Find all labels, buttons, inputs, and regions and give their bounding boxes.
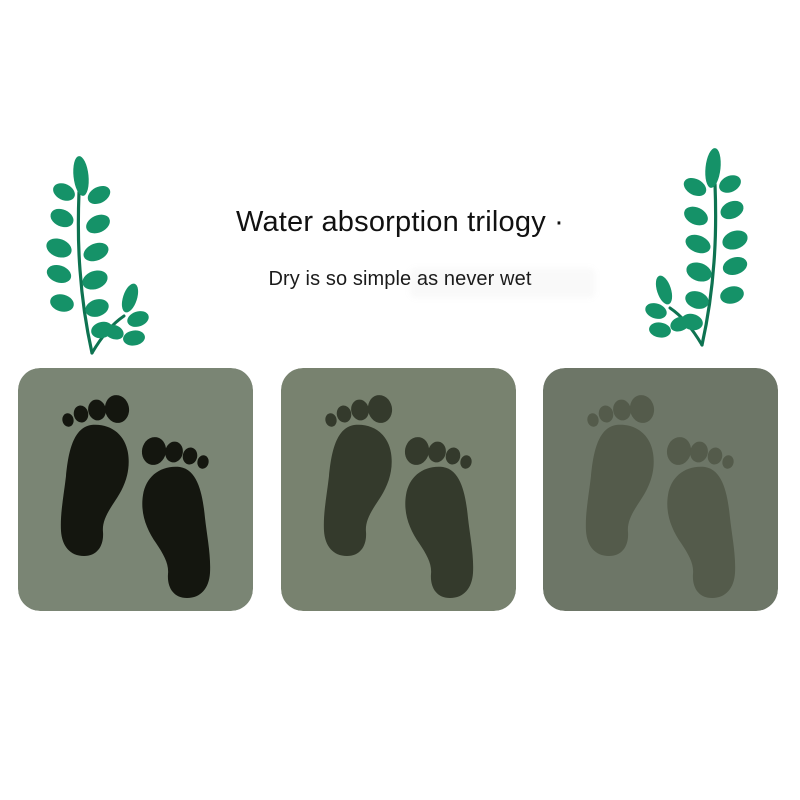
product-graphic-canvas: Water absorption trilogy · Dry is so sim… xyxy=(0,0,800,800)
footprint-panel-2 xyxy=(281,368,516,611)
page-subtitle: Dry is so simple as never wet xyxy=(0,265,800,293)
footprint-panel-row xyxy=(0,368,800,612)
leaf-sprig-left-icon xyxy=(42,148,172,358)
page-title: Water absorption trilogy · xyxy=(0,203,800,241)
footprint-panel-3 xyxy=(543,368,778,611)
footprint-panel-1 xyxy=(18,368,253,611)
leaf-sprig-right-icon xyxy=(622,140,752,350)
